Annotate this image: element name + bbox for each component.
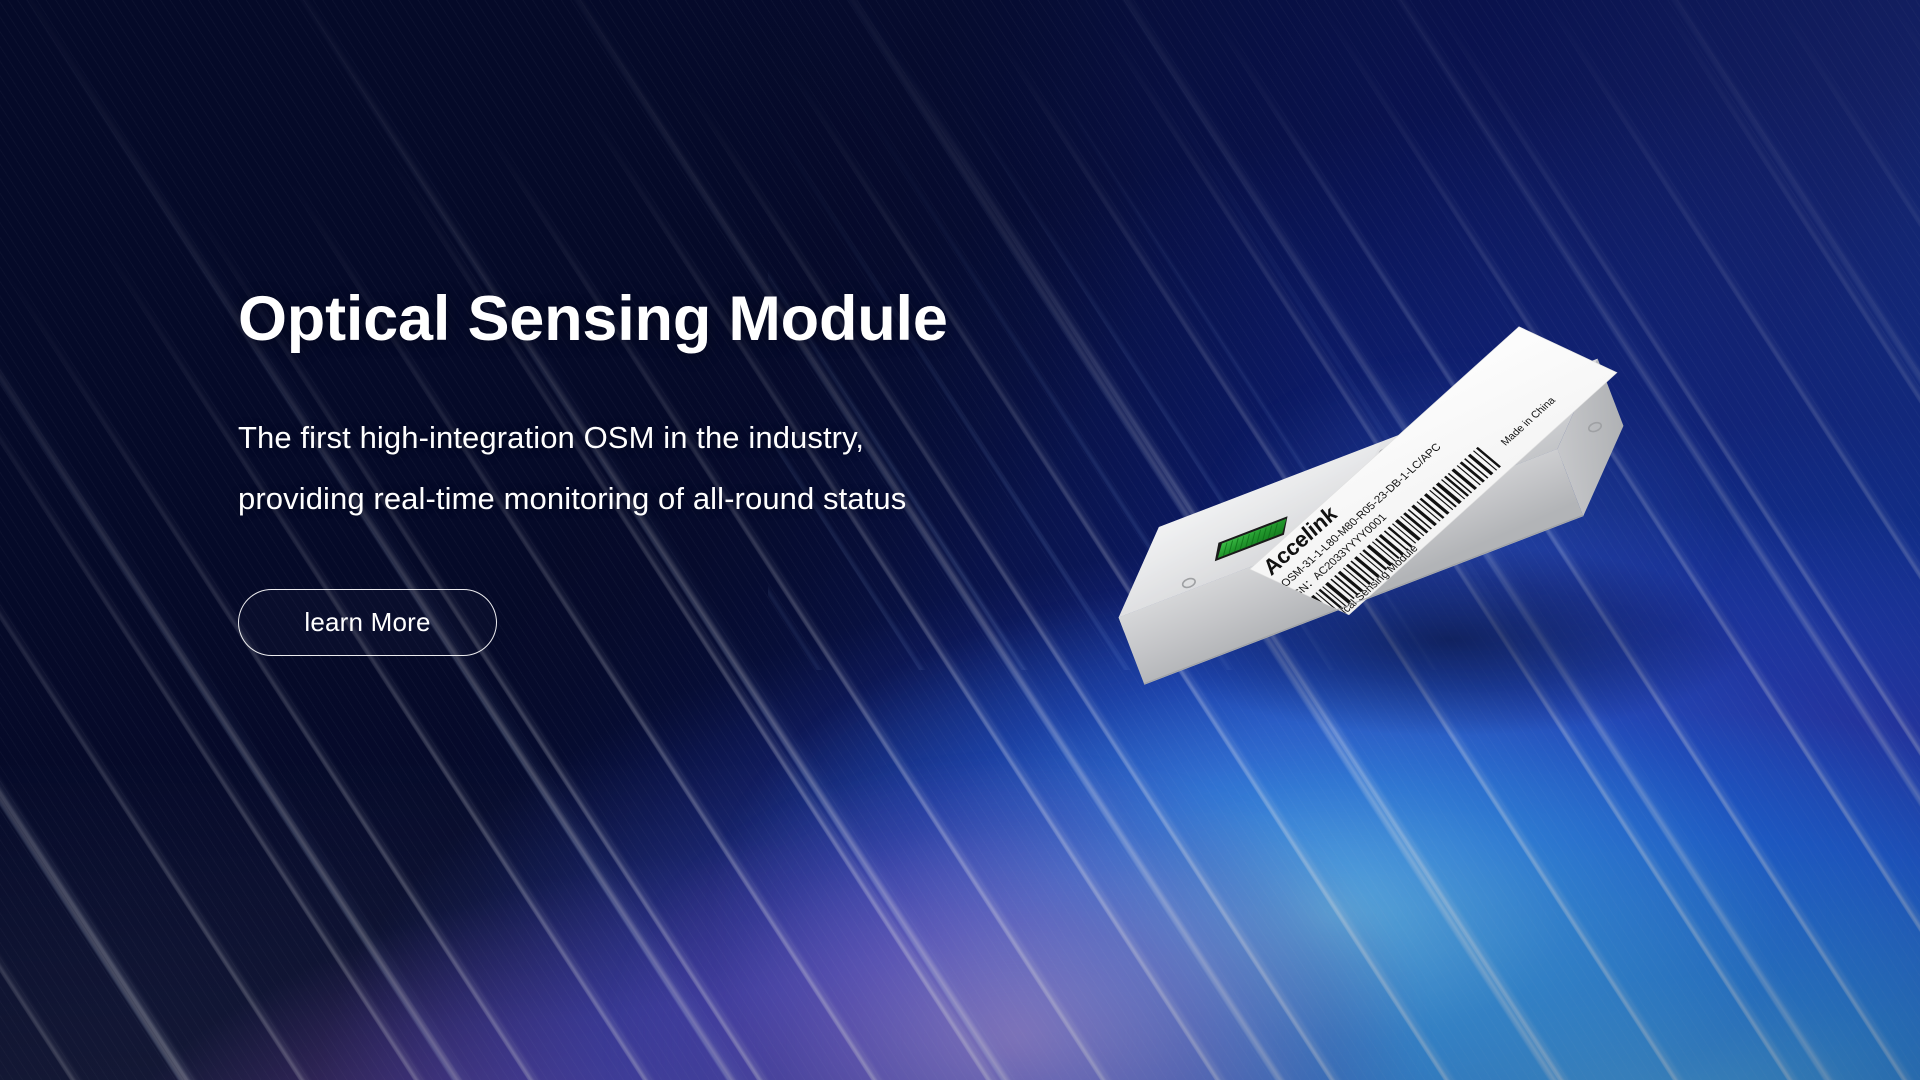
- page-title: Optical Sensing Module: [238, 286, 1118, 352]
- product-image-optical-sensing-module: Accelink OSM-31-1-L80-M80-R05-23-DB-1-LC…: [1100, 240, 1860, 760]
- subtitle-line-2: providing real-time monitoring of all-ro…: [238, 469, 1118, 529]
- hero-subtitle: The first high-integration OSM in the in…: [238, 408, 1118, 529]
- hero-content: Optical Sensing Module The first high-in…: [238, 286, 1118, 656]
- learn-more-button[interactable]: learn More: [238, 589, 497, 656]
- subtitle-line-1: The first high-integration OSM in the in…: [238, 408, 1118, 468]
- hero-banner: Accelink OSM-31-1-L80-M80-R05-23-DB-1-LC…: [0, 0, 1920, 1080]
